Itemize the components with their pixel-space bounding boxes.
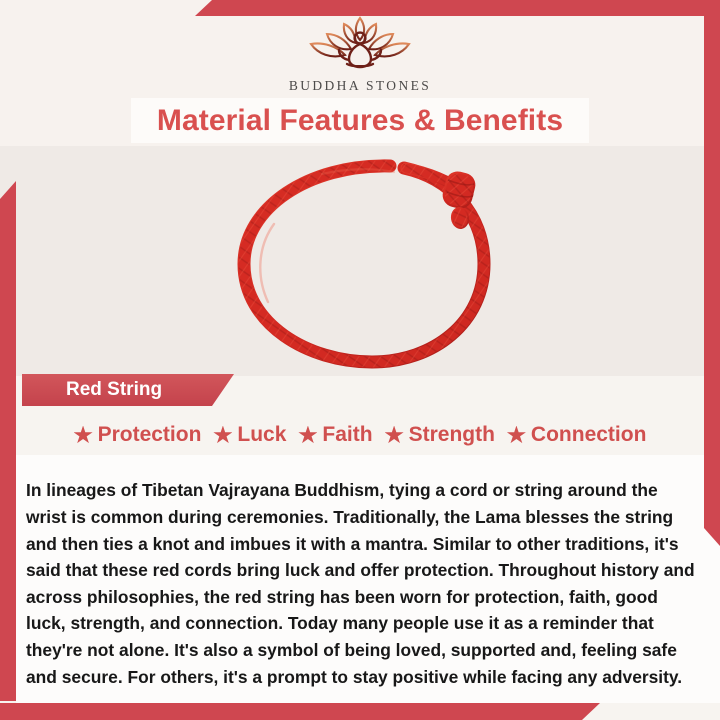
- benefit-label: Protection: [98, 423, 202, 447]
- brand-logo: BUDDHA STONES: [0, 14, 720, 94]
- benefit-item: Luck: [213, 423, 286, 447]
- benefit-item: Strength: [385, 423, 495, 447]
- star-icon: [385, 426, 404, 445]
- benefit-label: Strength: [409, 423, 495, 447]
- brand-name: BUDDHA STONES: [0, 78, 720, 94]
- star-icon: [213, 426, 232, 445]
- star-icon: [507, 426, 526, 445]
- decorative-bar-bottom: [0, 703, 600, 720]
- decorative-bar-right: [704, 16, 720, 546]
- headline-banner: Material Features & Benefits: [131, 98, 589, 143]
- star-icon: [74, 426, 93, 445]
- benefit-item: Protection: [74, 423, 202, 447]
- benefit-label: Connection: [531, 423, 647, 447]
- tag-label: Red String: [22, 379, 162, 401]
- benefit-label: Faith: [322, 423, 372, 447]
- benefit-item: Faith: [298, 423, 372, 447]
- product-image: [222, 152, 512, 374]
- decorative-bar-left: [0, 181, 16, 701]
- poster: BUDDHA STONES Material Features & Benefi…: [0, 0, 720, 720]
- benefit-item: Connection: [507, 423, 647, 447]
- lotus-meditation-icon: [299, 14, 421, 76]
- red-string-bracelet-illustration: [222, 152, 512, 374]
- benefits-row: Protection Luck Faith Strength Connectio…: [16, 419, 704, 451]
- star-icon: [298, 426, 317, 445]
- page-title: Material Features & Benefits: [157, 104, 563, 138]
- benefit-label: Luck: [237, 423, 286, 447]
- red-string-tag: Red String: [22, 374, 234, 406]
- description-paragraph: In lineages of Tibetan Vajrayana Buddhis…: [26, 477, 698, 690]
